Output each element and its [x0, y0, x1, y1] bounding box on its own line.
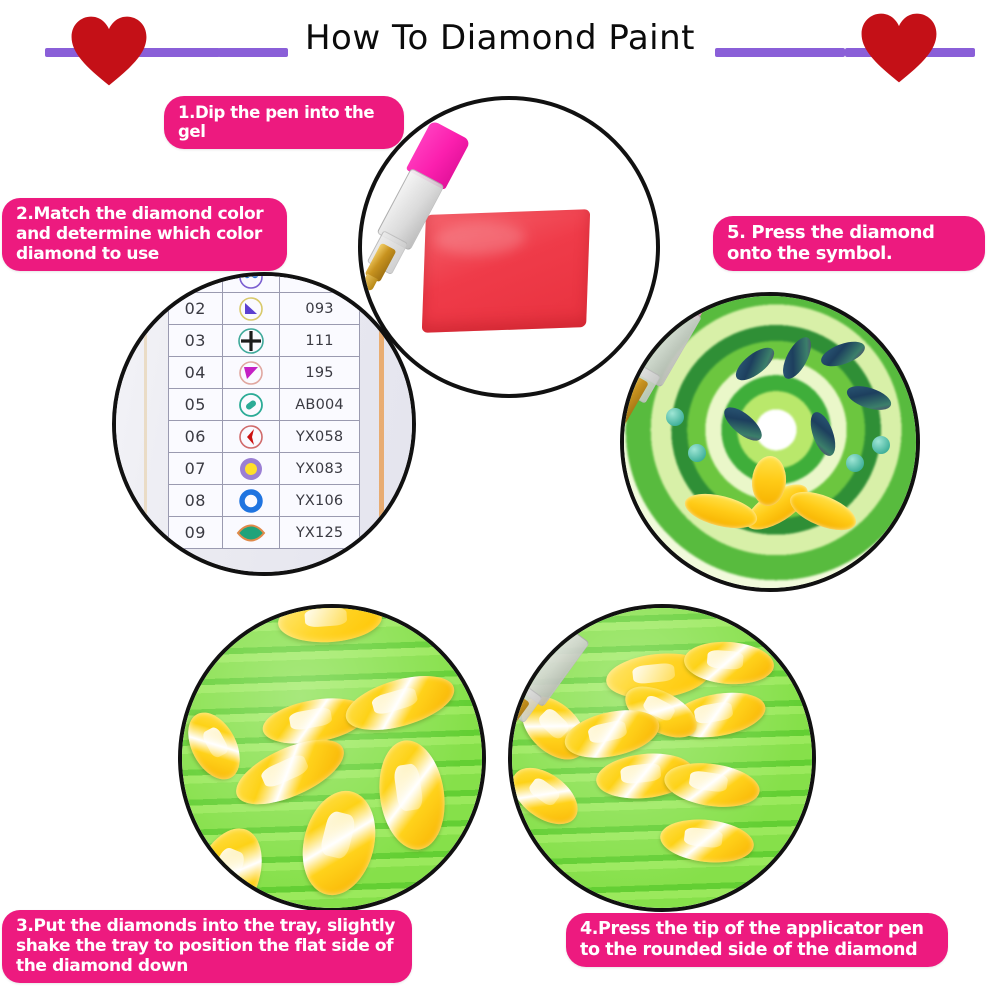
row-number: 04: [169, 357, 223, 389]
row-symbol: [222, 453, 280, 485]
page-header: How To Diamond Paint: [0, 0, 1000, 85]
row-symbol: [222, 272, 280, 293]
infographic-canvas: How To Diamond Paint 1.Dip the pen into …: [0, 0, 1000, 1000]
row-number: 07: [169, 453, 223, 485]
step-3-photo: [178, 604, 486, 912]
yellow-dot-in-ring-symbol: [223, 455, 280, 483]
blue-ring-symbol: [223, 487, 280, 515]
row-code: YX125: [280, 517, 360, 549]
row-symbol: [222, 389, 280, 421]
green-leaf-symbol: [223, 519, 280, 547]
step-3-label: 3.Put the diamonds into the tray, slight…: [2, 910, 412, 983]
gem: [872, 436, 890, 454]
gem: [666, 408, 684, 426]
symbol-chart-body: 020 02 093 03: [169, 272, 360, 549]
step-5-photo: [620, 292, 920, 592]
double-dot-circle-symbol: [223, 272, 280, 291]
row-symbol: [222, 485, 280, 517]
row-code: 111: [280, 325, 360, 357]
row-code: YX083: [280, 453, 360, 485]
table-row: 09 YX125: [169, 517, 360, 549]
row-code: 195: [280, 357, 360, 389]
row-code: 093: [280, 293, 360, 325]
table-row: 02 093: [169, 293, 360, 325]
row-number: 02: [169, 293, 223, 325]
row-symbol: [222, 357, 280, 389]
table-row: 03 111: [169, 325, 360, 357]
row-number: 08: [169, 485, 223, 517]
filled-triangle-symbol: [223, 295, 280, 323]
table-row: 07 YX083: [169, 453, 360, 485]
page-title: How To Diamond Paint: [0, 18, 1000, 58]
row-symbol: [222, 293, 280, 325]
row-symbol: [222, 325, 280, 357]
gem: [688, 444, 706, 462]
row-code: YX106: [280, 485, 360, 517]
gem: [846, 454, 864, 472]
table-row: 04 195: [169, 357, 360, 389]
row-number: [169, 272, 223, 293]
step-2-photo: 020 02 093 03: [112, 272, 416, 576]
step-4-photo: [508, 604, 816, 912]
row-number: 03: [169, 325, 223, 357]
teal-slash-oval-symbol: [223, 391, 280, 419]
table-row: 05 AB004: [169, 389, 360, 421]
magenta-triangle-symbol: [223, 359, 280, 387]
symbol-chart-sheet: 020 02 093 03: [116, 276, 412, 572]
row-symbol: [222, 421, 280, 453]
red-chevron-symbol: [223, 423, 280, 451]
step-5-label: 5. Press the diamond onto the symbol.: [713, 216, 985, 271]
pink-gel-pad: [422, 209, 590, 333]
row-code: AB004: [280, 389, 360, 421]
table-row: 08 YX106: [169, 485, 360, 517]
step-2-label: 2.Match the diamond color and determine …: [2, 198, 287, 271]
row-code: 020: [280, 272, 360, 293]
table-row: 020: [169, 272, 360, 293]
row-number: 06: [169, 421, 223, 453]
symbol-chart-table: 020 02 093 03: [168, 272, 360, 549]
row-symbol: [222, 517, 280, 549]
row-number: 05: [169, 389, 223, 421]
plus-cross-symbol: [223, 327, 280, 355]
step-4-label: 4.Press the tip of the applicator pen to…: [566, 913, 948, 967]
row-code: YX058: [280, 421, 360, 453]
table-row: 06 YX058: [169, 421, 360, 453]
row-number: 09: [169, 517, 223, 549]
